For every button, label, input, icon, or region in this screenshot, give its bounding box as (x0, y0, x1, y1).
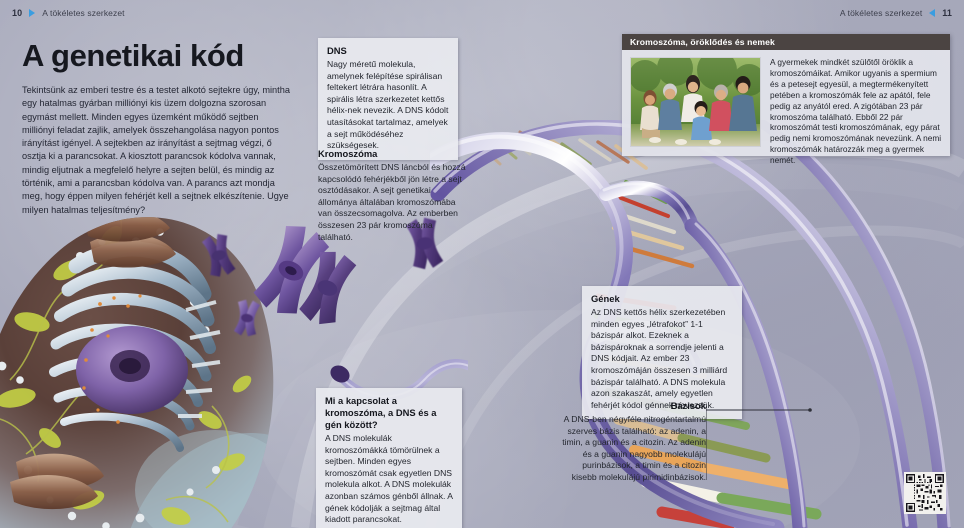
arrow-left-icon (929, 9, 935, 17)
callout-kromoszoma: Kromoszóma Összetömörített DNS láncból é… (318, 148, 468, 243)
runhead-left-label: A tökéletes szerkezet (42, 8, 124, 18)
intro-paragraph: Tekintsünk az emberi testre és a testet … (22, 84, 290, 217)
panel-oroklodes-titlebar: Kromoszóma, öröklődés és nemek (622, 34, 950, 50)
callout-bazisok: Bázisok A DNS-ben négyféle nitrogéntarta… (556, 400, 706, 484)
callout-kapcsolat: Mi a kapcsolat a kromoszóma, a DNS és a … (316, 388, 462, 528)
panel-oroklodes: Kromoszóma, öröklődés és nemek (622, 34, 950, 156)
runhead-right: A tökéletes szerkezet 11 (840, 8, 952, 18)
runhead-right-label: A tökéletes szerkezet (840, 8, 922, 18)
callout-dns: DNS Nagy méretű molekula, amelynek felép… (318, 38, 458, 160)
qr-code[interactable] (904, 472, 946, 514)
callout-kapcsolat-text: A DNS molekulák kromoszómákká tömörülnek… (325, 433, 453, 526)
family-photo (630, 57, 761, 147)
callout-genek-title: Gének (591, 293, 733, 305)
page-number-left: 10 (12, 8, 22, 18)
callout-kapcsolat-title: Mi a kapcsolat a kromoszóma, a DNS és a … (325, 395, 453, 431)
callout-dns-text: Nagy méretű molekula, amelynek felépítés… (327, 59, 449, 152)
page-title: A genetikai kód (22, 38, 244, 74)
callout-bazisok-text: A DNS-ben négyféle nitrogéntartalmú szer… (556, 414, 706, 484)
runhead-left: 10 A tökéletes szerkezet (12, 8, 125, 18)
arrow-right-icon (29, 9, 35, 17)
callout-genek-text: Az DNS kettős hélix szerkezetében minden… (591, 307, 733, 411)
page-number-right: 11 (942, 8, 952, 18)
panel-oroklodes-title: Kromoszóma, öröklődés és nemek (630, 37, 775, 47)
callout-bazisok-title: Bázisok (556, 400, 706, 412)
panel-oroklodes-text: A gyermekek mindkét szülőtől öröklik a k… (770, 57, 942, 166)
callout-kromoszoma-title: Kromoszóma (318, 148, 468, 160)
callout-kromoszoma-text: Összetömörített DNS láncból és hozzá kap… (318, 162, 468, 243)
magazine-spread: 10 A tökéletes szerkezet A tökéletes sze… (0, 0, 964, 528)
callout-dns-title: DNS (327, 45, 449, 57)
